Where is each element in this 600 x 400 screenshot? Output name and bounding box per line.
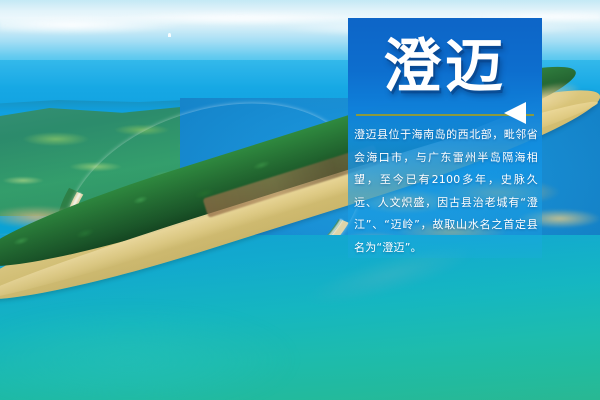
info-panel: 澄迈 澄迈县位于海南岛的西北部，毗邻省会海口市，与广东雷州半岛隔海相望，至今已有…: [348, 18, 542, 258]
triangle-left-icon: [504, 102, 526, 124]
banner-stage: 澄迈 澄迈县位于海南岛的西北部，毗邻省会海口市，与广东雷州半岛隔海相望，至今已有…: [0, 0, 600, 400]
boat-speck: [168, 33, 171, 37]
description-paragraph: 澄迈县位于海南岛的西北部，毗邻省会海口市，与广东雷州半岛隔海相望，至今已有210…: [354, 124, 538, 259]
page-title: 澄迈: [348, 24, 542, 110]
description-text: 澄迈县位于海南岛的西北部，毗邻省会海口市，与广东雷州半岛隔海相望，至今已有210…: [354, 124, 538, 259]
